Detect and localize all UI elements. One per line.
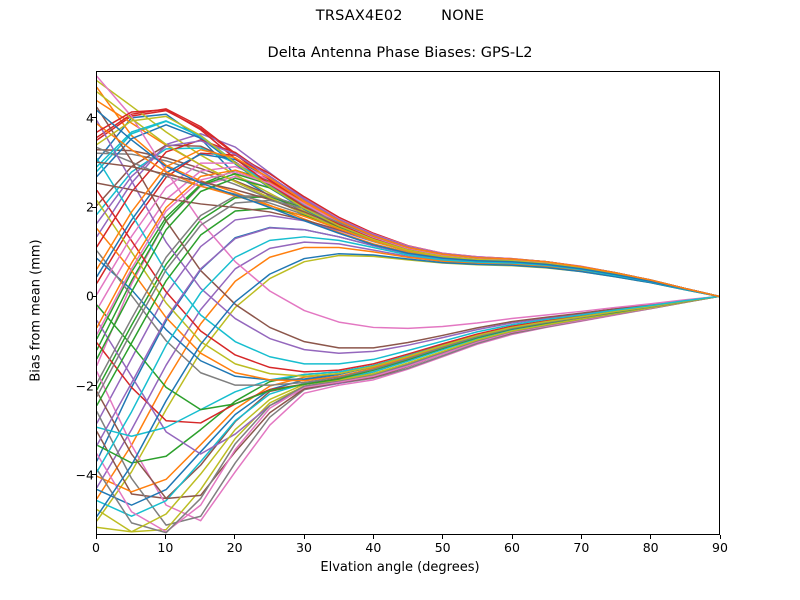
series-line xyxy=(97,176,719,365)
x-tick-label: 60 xyxy=(504,540,520,555)
series-line xyxy=(97,254,719,517)
figure-suptitle: TRSAX4E02 NONE xyxy=(0,8,800,24)
x-tick-mark xyxy=(720,535,721,539)
series-line xyxy=(97,255,719,520)
x-tick-label: 90 xyxy=(712,540,728,555)
x-tick-mark xyxy=(581,535,582,539)
series-line xyxy=(97,227,719,460)
y-tick-label: 0 xyxy=(86,289,94,304)
x-tick-mark xyxy=(234,535,235,539)
series-line xyxy=(97,140,719,296)
y-tick-label: 4 xyxy=(86,110,94,125)
x-tick-label: 10 xyxy=(157,540,173,555)
series-line xyxy=(97,121,719,296)
y-tick-label: −2 xyxy=(76,378,94,393)
y-axis-label: Bias from mean (mm) xyxy=(29,211,44,411)
x-tick-label: 40 xyxy=(365,540,381,555)
x-tick-mark xyxy=(165,535,166,539)
x-tick-mark xyxy=(650,535,651,539)
chart-title: Delta Antenna Phase Biases: GPS-L2 xyxy=(0,45,800,61)
series-line xyxy=(97,296,719,463)
x-tick-mark xyxy=(96,535,97,539)
x-tick-label: 0 xyxy=(92,540,100,555)
line-series-svg xyxy=(97,72,719,534)
figure-canvas: TRSAX4E02 NONE Delta Antenna Phase Biase… xyxy=(0,0,800,600)
x-tick-mark xyxy=(512,535,513,539)
x-tick-mark xyxy=(373,535,374,539)
series-line xyxy=(97,124,719,296)
x-tick-label: 80 xyxy=(643,540,659,555)
y-tick-label: 2 xyxy=(86,200,94,215)
plot-area xyxy=(96,71,720,535)
series-line xyxy=(97,141,719,296)
y-tick-label: −4 xyxy=(76,467,94,482)
x-axis-label: Elvation angle (degrees) xyxy=(0,560,800,575)
x-tick-label: 50 xyxy=(435,540,451,555)
series-line xyxy=(97,125,719,296)
x-tick-label: 20 xyxy=(227,540,243,555)
series-line xyxy=(97,88,719,297)
x-tick-mark xyxy=(442,535,443,539)
x-tick-label: 30 xyxy=(296,540,312,555)
x-tick-mark xyxy=(304,535,305,539)
x-tick-label: 70 xyxy=(573,540,589,555)
